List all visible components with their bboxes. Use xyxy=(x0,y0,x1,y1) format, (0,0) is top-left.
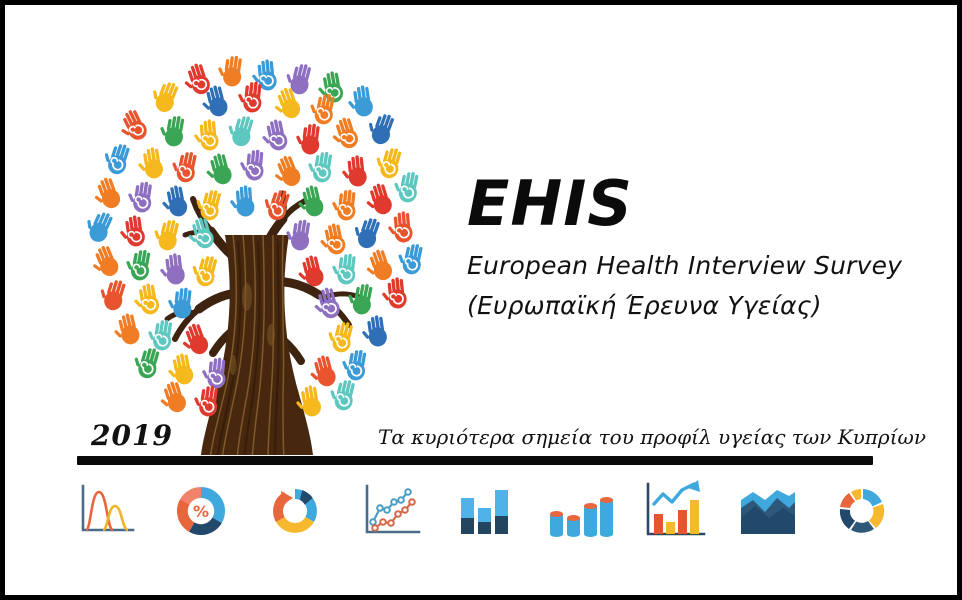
segmented-donut-icon xyxy=(825,478,899,544)
year-label: 2019 xyxy=(91,419,173,452)
distribution-curve-icon xyxy=(69,478,143,544)
subtitle-greek: (Ευρωπαϊκή Έρευνα Υγείας) xyxy=(467,291,927,320)
page-title: EHIS xyxy=(467,173,927,235)
percent-donut-icon: % xyxy=(164,478,238,544)
refresh-cycle-icon xyxy=(258,478,332,544)
tagline-text: Τα κυριότερα σημεία του προφίλ υγείας τω… xyxy=(378,425,926,449)
icon-strip: % xyxy=(69,475,899,547)
scatter-line-icon xyxy=(353,478,427,544)
handprint-tree-logo xyxy=(57,35,457,465)
stacked-bar-icon xyxy=(447,478,521,544)
svg-text:%: % xyxy=(192,502,208,521)
subtitle-english: European Health Interview Survey xyxy=(467,251,927,280)
slide-canvas: EHIS European Health Interview Survey (Ε… xyxy=(0,0,962,600)
cylinder-bar-icon xyxy=(542,478,616,544)
bar-trend-arrow-icon xyxy=(636,478,710,544)
area-chart-icon xyxy=(731,478,805,544)
title-block: EHIS European Health Interview Survey (Ε… xyxy=(467,173,927,320)
horizontal-rule xyxy=(77,456,873,465)
